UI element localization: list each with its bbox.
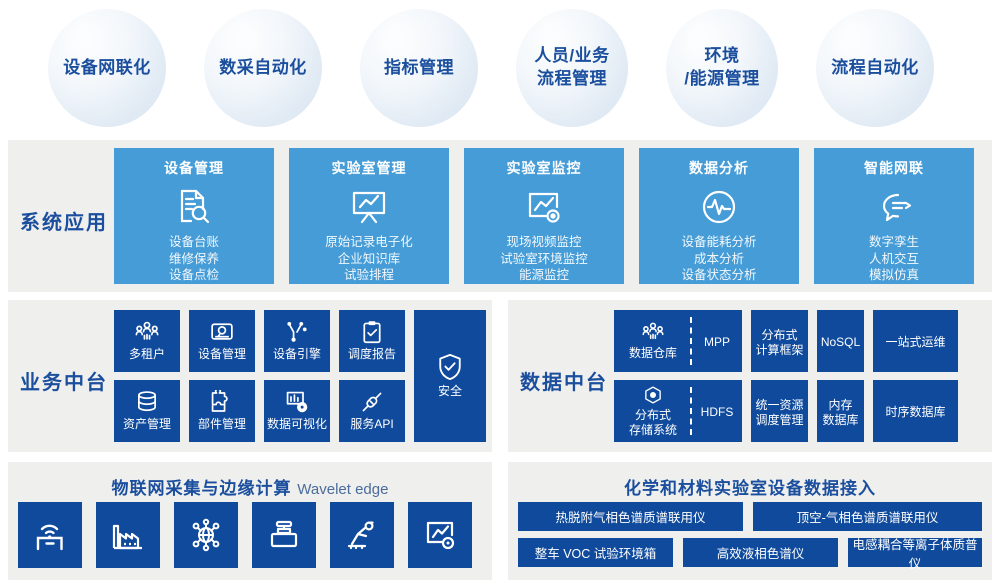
bubble-label-line1: 环境: [704, 46, 739, 65]
tile-label-line2: 数据库: [822, 413, 858, 427]
tile-label-line1: 统一资源: [755, 398, 803, 412]
biz-tile-security[interactable]: 安全: [414, 310, 486, 442]
card-lines: 设备能耗分析 成本分析 设备状态分析: [681, 234, 756, 284]
architecture-diagram: 设备网联化 数采自动化 指标管理 人员/业务流程管理 环境/能源管理 流程自动化…: [0, 0, 1000, 588]
monitor-chart-icon: [524, 186, 564, 228]
biz-tile-data-visualization[interactable]: 数据可视化: [264, 380, 330, 442]
tile-label-line2: 调度管理: [755, 413, 803, 427]
network-globe-icon: [189, 518, 223, 552]
tile-label-line1: 分布式: [761, 328, 797, 342]
card-lines: 数字孪生 人机交互 模拟仿真: [869, 234, 919, 284]
data-tile-resource-scheduling[interactable]: 统一资源 调度管理: [751, 380, 808, 442]
tile-label: HDFS: [701, 405, 734, 420]
data-tile-one-stop-ops[interactable]: 一站式运维: [873, 310, 958, 372]
capability-bubble-row: 设备网联化 数采自动化 指标管理 人员/业务流程管理 环境/能源管理 流程自动化: [0, 0, 1000, 136]
sys-card-lab-monitoring[interactable]: 实验室监控 现场视频监控 试验室环境监控 能源监控: [464, 148, 624, 284]
tile-label-line1: 分布式: [635, 408, 671, 422]
tile-label: 部件管理: [198, 417, 246, 432]
chem-btn-voc-chamber[interactable]: 整车 VOC 试验环境箱: [518, 538, 673, 567]
iot-card-network-globe[interactable]: [174, 502, 238, 568]
users-group-icon: [135, 320, 159, 344]
tile-label: 资产管理: [123, 417, 171, 432]
bubble-data-acquisition[interactable]: 数采自动化: [204, 9, 322, 127]
bubble-label-line1: 人员/业务: [534, 46, 609, 65]
chem-btn-hplc[interactable]: 高效液相色谱仪: [683, 538, 838, 567]
card-line: 现场视频监控: [500, 234, 588, 251]
chem-btn-icp-ms[interactable]: 电感耦合等离子体质普仪: [848, 538, 982, 567]
tile-label: 调度报告: [348, 347, 396, 362]
pulse-circle-icon: [699, 186, 739, 228]
data-tile-in-memory-db[interactable]: 内存 数据库: [817, 380, 864, 442]
bubble-label-line2: /能源管理: [684, 69, 759, 88]
bubble-label: 流程自动化: [831, 57, 919, 80]
chem-row-2: 整车 VOC 试验环境箱 高效液相色谱仪 电感耦合等离子体质普仪: [518, 538, 982, 567]
bubble-personnel-process[interactable]: 人员/业务流程管理: [516, 9, 628, 127]
sys-card-intelligent-connection[interactable]: 智能网联 数字孪生 人机交互 模拟仿真: [814, 148, 974, 284]
storage-cube-icon: [643, 385, 663, 405]
card-lines: 现场视频监控 试验室环境监控 能源监控: [500, 234, 588, 284]
iot-card-robot-arm[interactable]: [330, 502, 394, 568]
tile-label-line2: 存储系统: [629, 423, 677, 437]
puzzle-piece-icon: [210, 390, 234, 414]
factory-icon: [111, 518, 145, 552]
card-title: 实验室监控: [507, 158, 582, 178]
chem-btn-thermal-desorption-gcms[interactable]: 热脱附气相色谱质谱联用仪: [518, 502, 743, 531]
document-search-icon: [174, 186, 214, 228]
iot-title-text: 物联网采集与边缘计算: [112, 479, 292, 498]
biz-tile-schedule-report[interactable]: 调度报告: [339, 310, 405, 372]
bubble-device-networking[interactable]: 设备网联化: [48, 9, 166, 127]
chem-row-1: 热脱附气相色谱质谱联用仪 顶空-气相色谱质谱联用仪: [518, 502, 982, 531]
bubble-environment-energy[interactable]: 环境/能源管理: [666, 9, 778, 127]
iot-card-monitor-chart[interactable]: [408, 502, 472, 568]
iot-card-wifi-gateway[interactable]: [18, 502, 82, 568]
card-lines: 原始记录电子化 企业知识库 试验排程: [325, 234, 413, 284]
biz-tile-asset-management[interactable]: 资产管理: [114, 380, 180, 442]
card-line: 试验室环境监控: [500, 251, 588, 268]
device-box-icon: [210, 320, 234, 344]
tile-label-line2: 计算框架: [755, 343, 803, 357]
data-tile-data-warehouse[interactable]: 数据仓库: [614, 310, 692, 372]
card-line: 试验排程: [325, 267, 413, 284]
card-line: 设备状态分析: [681, 267, 756, 284]
data-platform-label: 数据中台: [520, 366, 608, 395]
tile-label: 时序数据库: [885, 405, 945, 420]
card-line: 维修保养: [169, 251, 219, 268]
card-line: 设备点检: [169, 267, 219, 284]
bubble-label-line2: 流程管理: [537, 69, 607, 88]
card-line: 数字孪生: [869, 234, 919, 251]
card-line: 企业知识库: [325, 251, 413, 268]
tile-label: 多租户: [129, 347, 165, 362]
robot-arm-icon: [345, 518, 379, 552]
card-line: 人机交互: [869, 251, 919, 268]
chemistry-equipment-buttons: 热脱附气相色谱质谱联用仪 顶空-气相色谱质谱联用仪 整车 VOC 试验环境箱 高…: [518, 502, 982, 574]
tile-label: MPP: [704, 335, 730, 350]
tile-label: 一站式运维: [885, 335, 945, 350]
biz-tile-device-engine[interactable]: 设备引擎: [264, 310, 330, 372]
chart-search-icon: [285, 390, 309, 414]
business-platform-label: 业务中台: [20, 366, 108, 395]
data-tile-distributed-compute[interactable]: 分布式 计算框架: [751, 310, 808, 372]
data-tile-mpp[interactable]: MPP: [692, 310, 742, 372]
users-group-icon: [642, 321, 664, 343]
clipboard-check-icon: [360, 320, 384, 344]
card-line: 原始记录电子化: [325, 234, 413, 251]
bubble-label: 指标管理: [384, 57, 454, 80]
sys-card-lab-management[interactable]: 实验室管理 原始记录电子化 企业知识库 试验排程: [289, 148, 449, 284]
biz-tile-multi-tenant[interactable]: 多租户: [114, 310, 180, 372]
card-title: 智能网联: [864, 158, 924, 178]
iot-subtitle-text: Wavelet edge: [297, 481, 388, 498]
tile-label-line1: 内存: [828, 398, 852, 412]
bubble-process-automation[interactable]: 流程自动化: [816, 9, 934, 127]
data-tile-distributed-storage[interactable]: 分布式 存储系统: [614, 380, 692, 442]
tile-label: 服务API: [350, 417, 393, 432]
ai-chat-icon: [874, 186, 914, 228]
iot-card-factory[interactable]: [96, 502, 160, 568]
data-tile-nosql[interactable]: NoSQL: [817, 310, 864, 372]
database-stack-icon: [135, 390, 159, 414]
system-application-cards: 设备管理 设备台账 维修保养 设备点检 实验室管理: [114, 148, 974, 284]
iot-icon-cards: [18, 502, 472, 568]
tile-label: NoSQL: [821, 335, 860, 350]
iot-card-valve-machine[interactable]: [252, 502, 316, 568]
data-tile-hdfs[interactable]: HDFS: [692, 380, 742, 442]
biz-tile-device-management[interactable]: 设备管理: [189, 310, 255, 372]
biz-tile-service-api[interactable]: 服务API: [339, 380, 405, 442]
bubble-metric-management[interactable]: 指标管理: [360, 9, 478, 127]
card-line: 成本分析: [681, 251, 756, 268]
card-title: 实验室管理: [332, 158, 407, 178]
data-tile-timeseries-db[interactable]: 时序数据库: [873, 380, 958, 442]
data-platform-grid: 数据仓库 MPP 分布式 计算框架 NoSQL 一站式运维: [614, 310, 958, 442]
business-platform-grid: 多租户 设备管理 设备引擎: [114, 310, 486, 442]
sys-card-data-analysis[interactable]: 数据分析 设备能耗分析 成本分析 设备状态分析: [639, 148, 799, 284]
bubble-label: 设备网联化: [63, 57, 151, 80]
card-line: 能源监控: [500, 267, 588, 284]
chem-section-title: 化学和材料实验室设备数据接入: [508, 474, 992, 499]
sys-card-device-management[interactable]: 设备管理 设备台账 维修保养 设备点检: [114, 148, 274, 284]
card-title: 设备管理: [164, 158, 224, 178]
system-application-label: 系统应用: [20, 206, 108, 235]
tile-label: 设备管理: [198, 347, 246, 362]
card-line: 模拟仿真: [869, 267, 919, 284]
monitor-chart-icon: [423, 518, 457, 552]
tile-label: 数据可视化: [267, 417, 327, 432]
card-title: 数据分析: [689, 158, 749, 178]
tile-label: 数据仓库: [629, 346, 677, 361]
tile-label: 设备引擎: [273, 347, 321, 362]
iot-section-title: 物联网采集与边缘计算 Wavelet edge: [8, 474, 492, 499]
wifi-gateway-icon: [33, 518, 67, 552]
card-lines: 设备台账 维修保养 设备点检: [169, 234, 219, 284]
bubble-label: 数采自动化: [219, 57, 307, 80]
card-line: 设备台账: [169, 234, 219, 251]
tile-label: 安全: [438, 384, 462, 399]
valve-machine-icon: [267, 518, 301, 552]
plug-connect-icon: [360, 390, 384, 414]
shield-check-icon: [437, 353, 463, 381]
biz-tile-component-management[interactable]: 部件管理: [189, 380, 255, 442]
engine-node-icon: [285, 320, 309, 344]
presentation-chart-icon: [349, 186, 389, 228]
chem-title-text: 化学和材料实验室设备数据接入: [624, 479, 876, 498]
chem-btn-headspace-gcms[interactable]: 顶空-气相色谱质谱联用仪: [753, 502, 982, 531]
card-line: 设备能耗分析: [681, 234, 756, 251]
